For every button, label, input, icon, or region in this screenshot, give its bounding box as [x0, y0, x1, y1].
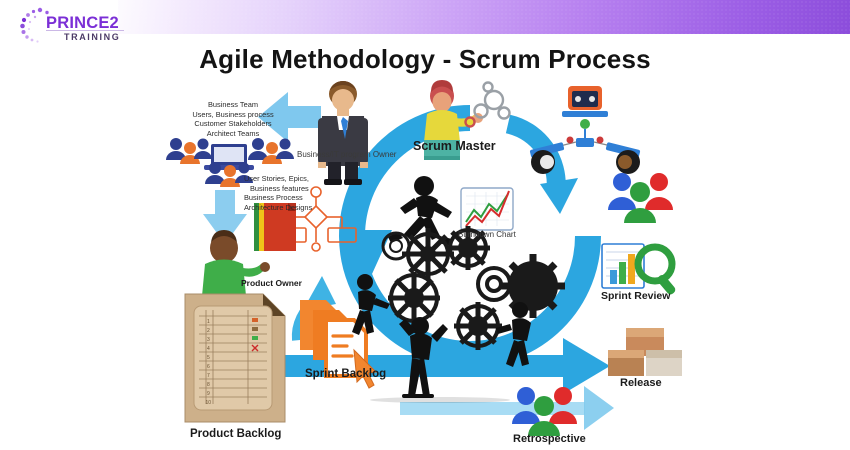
scrum-process-diagram: 12 34 56 78 910: [0, 78, 850, 450]
svg-text:4: 4: [207, 346, 210, 352]
brand-logo[interactable]: PRINCE2 TRAINING: [18, 6, 128, 50]
stakeholders-line-2: Users, Business process: [178, 110, 288, 120]
diagram-canvas: 12 34 56 78 910: [0, 78, 850, 450]
requirements-text-block: User Stories, Epics, Business features B…: [244, 174, 348, 212]
program-owner-label: Business/IT program Owner: [297, 150, 396, 159]
stakeholders-line-1: Business Team: [178, 100, 288, 110]
requirements-line-2: Business features: [244, 184, 348, 194]
svg-text:2: 2: [207, 328, 210, 334]
stakeholders-text-block: Business Team Users, Business process Cu…: [178, 100, 288, 138]
stakeholders-line-3: Customer Stakeholders: [178, 119, 288, 129]
svg-text:1: 1: [207, 319, 210, 325]
requirements-line-1: User Stories, Epics,: [244, 174, 348, 184]
burndown-chart-label: Burndown Chart: [458, 230, 516, 239]
sprint-backlog-label: Sprint Backlog: [305, 368, 386, 380]
sprint-review-label: Sprint Review: [601, 290, 670, 302]
scrum-master-label: Scrum Master: [413, 139, 496, 153]
backlog-document-icon: 12 34 56 78 910: [185, 294, 285, 422]
team-network-icon: [530, 86, 641, 174]
stakeholders-line-4: Architect Teams: [178, 129, 288, 139]
logo-divider: [46, 30, 124, 31]
retrospective-arrow: [400, 386, 614, 430]
retrospective-label: Retrospective: [513, 433, 586, 445]
svg-text:6: 6: [207, 364, 210, 370]
svg-text:3: 3: [207, 337, 210, 343]
requirements-line-3: Business Process: [244, 193, 348, 203]
svg-text:8: 8: [207, 382, 210, 388]
boxes-icon: [608, 328, 682, 376]
burndown-chart-icon: [461, 188, 513, 230]
svg-text:7: 7: [207, 373, 210, 379]
svg-text:10: 10: [206, 400, 212, 406]
product-owner-label: Product Owner: [241, 278, 302, 288]
release-label: Release: [620, 377, 662, 389]
chart-magnifier-icon: [602, 244, 677, 296]
svg-text:5: 5: [207, 355, 210, 361]
screenshot-root: PRINCE2 TRAINING Agile Methodology - Scr…: [0, 0, 850, 450]
people-group-icon: [608, 173, 673, 223]
brand-subtitle: TRAINING: [64, 32, 120, 42]
requirements-line-4: Architecture Designs: [244, 203, 348, 213]
product-backlog-label: Product Backlog: [190, 428, 281, 440]
svg-text:9: 9: [207, 391, 210, 397]
